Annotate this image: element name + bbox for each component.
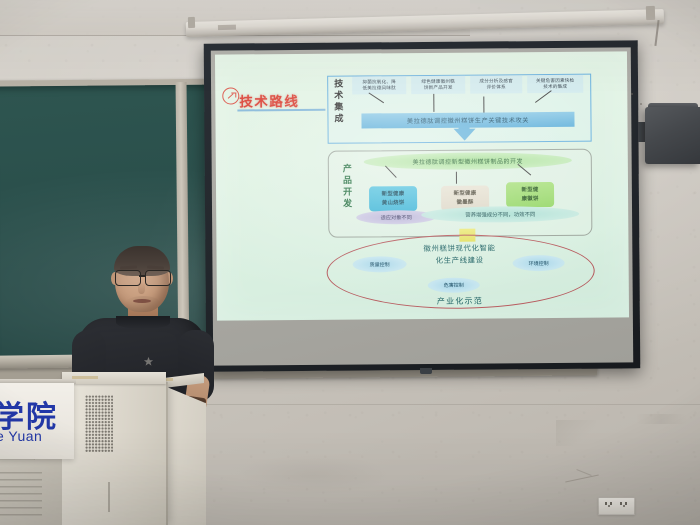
tech-box-4: 关键危害因素快检 技术的集成 [527, 75, 583, 93]
section-1-vertical-label: 技术集成 [333, 79, 342, 139]
down-arrow-head-icon [454, 129, 476, 141]
podium-speaker-grille [85, 395, 113, 452]
podium-corner-edge [166, 382, 168, 525]
power-outlet[interactable] [598, 497, 635, 515]
outlet-ground-pin-left [608, 505, 610, 507]
glasses-bridge [139, 275, 145, 277]
section-2-vertical-label: 产品开发 [342, 164, 352, 236]
wall-baseboard-line [190, 404, 700, 405]
product-arrow-2 [456, 172, 457, 184]
banner-pinyin-text: e Yuan [0, 428, 42, 444]
wall-nail-1 [631, 93, 633, 95]
wall-stain-upper [636, 414, 686, 424]
tech-box-3: 成分分析及感官 评价体系 [470, 75, 522, 93]
wall-stain [556, 420, 596, 446]
slide-title: 技术路线 [239, 90, 299, 110]
screenshot-root: 技术路线 技术集成 抑菌抗氧化、降 低美拉德风味肽 绿色健康徽州糕 饼新产品开发… [0, 0, 700, 525]
housing-bracket-right [646, 6, 655, 20]
shirt-logo-icon [143, 354, 154, 365]
connector-arrow-3 [483, 97, 484, 114]
presenter-chin-shadow [124, 296, 162, 314]
product-box-1: 新型健康 黄山烧饼 [369, 186, 417, 211]
connector-arrow-2 [433, 94, 434, 112]
wall-speaker [645, 107, 700, 164]
housing-label [218, 25, 236, 30]
outlet-ground-pin-right [623, 505, 625, 507]
podium-front-panel [58, 382, 168, 525]
presenter-nose [138, 282, 145, 294]
podium-door-handle[interactable] [108, 482, 110, 512]
presenter-shirt-collar [116, 316, 170, 329]
housing-bracket-left [188, 17, 195, 28]
arrow-bullet-icon [222, 87, 239, 104]
tech-box-1: 抑菌抗氧化、降 低美拉德风味肽 [352, 76, 406, 94]
tech-box-2: 绿色健康徽州糕 饼新产品开发 [411, 76, 465, 94]
presentation-slide: 技术路线 技术集成 抑菌抗氧化、降 低美拉德风味肽 绿色健康徽州糕 饼新产品开发… [215, 51, 629, 320]
podium-vent-slots [0, 472, 42, 518]
wall-nail-2 [640, 103, 642, 105]
glasses-lens-left [115, 270, 141, 286]
wall-smudge [238, 455, 388, 495]
glasses-lens-right [145, 270, 171, 286]
slide-title-underline [237, 109, 325, 111]
section-3-footer: 产业化示范 [377, 295, 543, 307]
screen-bottom-weight [420, 368, 432, 374]
product-box-3: 新型健 康徽饼 [506, 182, 554, 207]
